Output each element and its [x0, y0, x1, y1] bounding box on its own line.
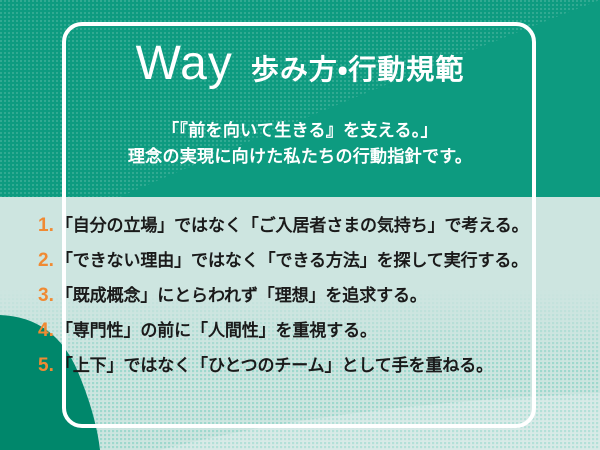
list-item-text: 「自分の立場」ではなく「ご入居者さまの気持ち」で考える。	[56, 217, 529, 234]
list-item-number: 4.	[38, 321, 56, 340]
lead-line-1: 「『前を向いて生きる』を支える。」	[0, 118, 600, 144]
title-japanese: 歩み方・行動規範	[251, 56, 465, 84]
title-row: Way 歩み方・行動規範	[0, 40, 600, 88]
lead-line-2: 理念の実現に向けた私たちの行動指針です。	[0, 144, 600, 170]
guidelines-list: 1. 「自分の立場」ではなく「ご入居者さまの気持ち」で考える。 2. 「できない…	[38, 216, 568, 391]
list-item: 3. 「既成概念」にとらわれず「理想」を追求する。	[38, 286, 568, 321]
list-item-text: 「できない理由」ではなく「できる方法」を探して実行する。	[56, 252, 528, 269]
list-item-number: 3.	[38, 286, 56, 305]
list-item-text: 「既成概念」にとらわれず「理想」を追求する。	[56, 287, 427, 304]
list-item-text: 「専門性」の前に「人間性」を重視する。	[56, 322, 377, 339]
lead-text-block: 「『前を向いて生きる』を支える。」 理念の実現に向けた私たちの行動指針です。	[0, 118, 600, 171]
list-item-number: 1.	[38, 216, 56, 235]
list-item-text: 「上下」ではなく「ひとつのチーム」として手を重ねる。	[56, 357, 493, 374]
list-item: 5. 「上下」ではなく「ひとつのチーム」として手を重ねる。	[38, 356, 568, 391]
list-item: 4. 「専門性」の前に「人間性」を重視する。	[38, 321, 568, 356]
list-item-number: 2.	[38, 251, 56, 270]
list-item: 1. 「自分の立場」ではなく「ご入居者さまの気持ち」で考える。	[38, 216, 568, 251]
list-item-number: 5.	[38, 356, 56, 375]
title-english: Way	[136, 40, 233, 88]
way-values-slide: Way 歩み方・行動規範 「『前を向いて生きる』を支える。」 理念の実現に向けた…	[0, 0, 600, 450]
list-item: 2. 「できない理由」ではなく「できる方法」を探して実行する。	[38, 251, 568, 286]
